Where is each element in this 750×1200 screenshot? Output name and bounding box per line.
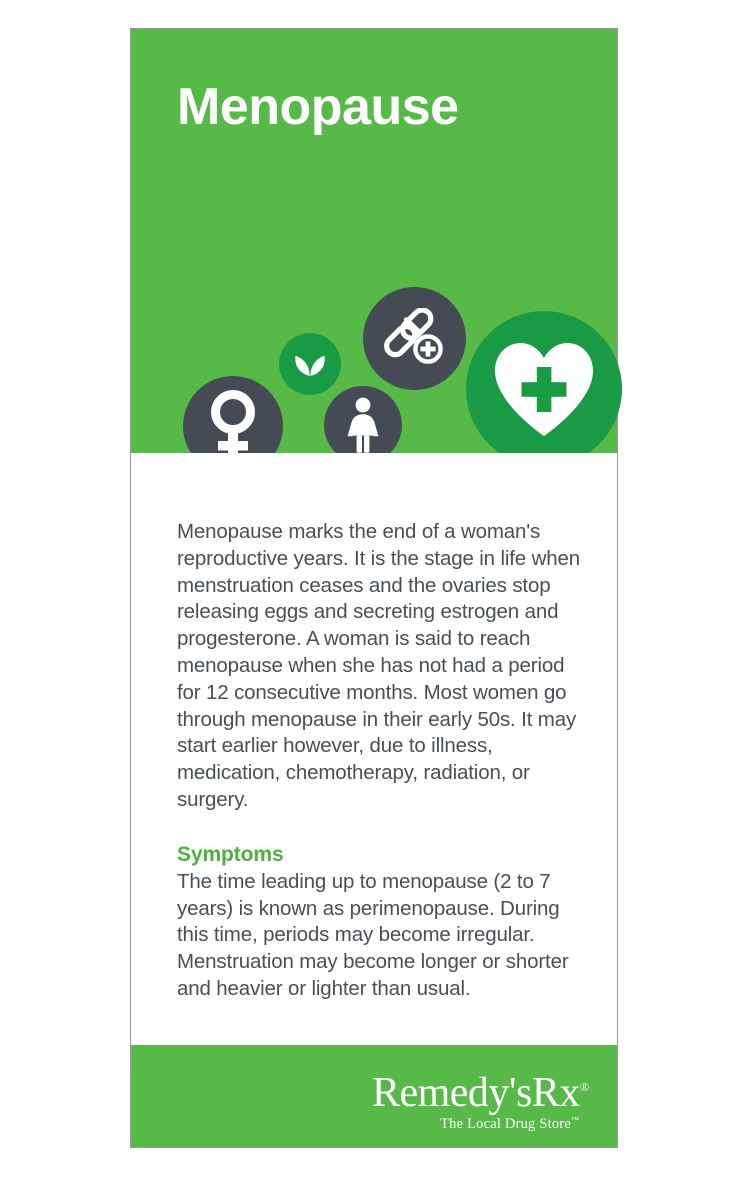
symptoms-paragraph: The time leading up to menopause (2 to 7… — [177, 869, 581, 1003]
brand-logo: Remedy'sRx® The Local Drug Store™ — [372, 1065, 589, 1132]
page-title: Menopause — [177, 81, 459, 133]
brand-name: Remedy'sRx® — [372, 1065, 589, 1115]
pills-plus-icon — [363, 287, 466, 390]
heart-cross-icon — [466, 311, 622, 467]
symptoms-heading: Symptoms — [177, 842, 581, 868]
footer-band: Remedy'sRx® The Local Drug Store™ — [131, 1045, 617, 1147]
brand-tagline: The Local Drug Store™ — [372, 1112, 579, 1132]
trademark-mark: ™ — [571, 1115, 579, 1124]
intro-paragraph: Menopause marks the end of a woman's rep… — [177, 519, 581, 814]
body-area: Menopause marks the end of a woman's rep… — [131, 453, 617, 1047]
registered-mark: ® — [580, 1080, 589, 1094]
brand-name-text: Remedy'sRx — [372, 1070, 580, 1116]
poster-page: Menopause — [0, 0, 750, 1200]
body-content: Menopause marks the end of a woman's rep… — [177, 519, 581, 1003]
info-card: Menopause — [130, 28, 618, 1148]
leaf-icon — [279, 333, 341, 395]
brand-tagline-text: The Local Drug Store — [440, 1116, 571, 1132]
